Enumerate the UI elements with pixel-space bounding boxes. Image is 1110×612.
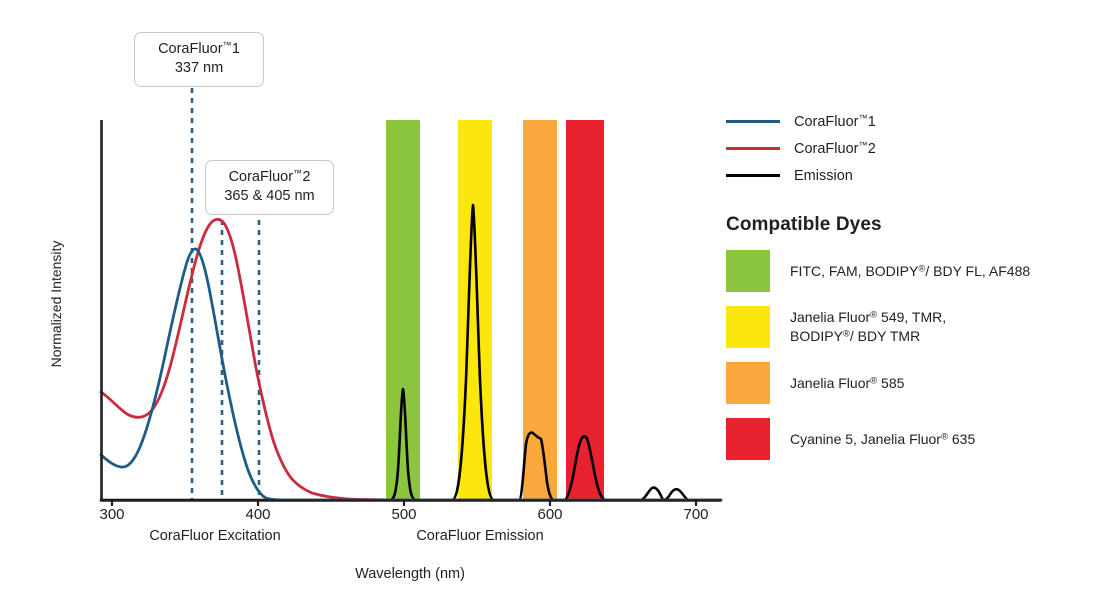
- x-tick-label-700: 700: [666, 506, 726, 523]
- x-tick-label-300: 300: [82, 506, 142, 523]
- excitation-markers: [192, 88, 259, 501]
- legend-line-swatch-corafluor1: [726, 120, 780, 123]
- callout-corafluor1-line1: CoraFluor™1: [147, 40, 251, 59]
- band-orange: [523, 120, 557, 500]
- band-green: [386, 120, 420, 500]
- excitation-section-label: CoraFluor Excitation: [70, 528, 360, 544]
- legend-item-emission: Emission: [726, 162, 1102, 189]
- legend-panel: CoraFluor™1 CoraFluor™2 Emission Compati…: [726, 108, 1102, 460]
- x-tick-label-400: 400: [228, 506, 288, 523]
- legend-line-swatch-emission: [726, 174, 780, 177]
- y-axis-title: Normalized Intensity: [48, 214, 64, 394]
- legend-item-corafluor2: CoraFluor™2: [726, 135, 1102, 162]
- callout-corafluor1: CoraFluor™1 337 nm: [134, 32, 264, 87]
- legend-item-corafluor1: CoraFluor™1: [726, 108, 1102, 135]
- dye-swatch-yellow: [726, 306, 770, 348]
- compatible-dyes-title: Compatible Dyes: [726, 214, 1102, 236]
- legend-label-corafluor2: CoraFluor™2: [794, 140, 876, 157]
- dye-item-yellow: Janelia Fluor® 549, TMR,BODIPY®/ BDY TMR: [726, 306, 1102, 348]
- legend-label-corafluor1: CoraFluor™1: [794, 113, 876, 130]
- dye-label-green: FITC, FAM, BODIPY®/ BDY FL, AF488: [790, 262, 1030, 281]
- dye-label-yellow: Janelia Fluor® 549, TMR,BODIPY®/ BDY TMR: [790, 308, 946, 345]
- legend-label-emission: Emission: [794, 168, 853, 184]
- dye-bands: [386, 120, 604, 500]
- spectra-figure: 300 400 500 600 700 CoraFluor Excitation…: [0, 0, 1110, 612]
- dye-label-red: Cyanine 5, Janelia Fluor® 635: [790, 430, 975, 449]
- band-red: [566, 120, 604, 500]
- dye-swatch-red: [726, 418, 770, 460]
- callout-corafluor2: CoraFluor™2 365 & 405 nm: [205, 160, 334, 215]
- dye-item-green: FITC, FAM, BODIPY®/ BDY FL, AF488: [726, 250, 1102, 292]
- x-tick-label-600: 600: [520, 506, 580, 523]
- legend-line-swatch-corafluor2: [726, 147, 780, 150]
- dye-label-orange: Janelia Fluor® 585: [790, 374, 904, 393]
- callout-corafluor2-line2: 365 & 405 nm: [218, 187, 321, 206]
- dye-swatch-green: [726, 250, 770, 292]
- emission-section-label: CoraFluor Emission: [370, 528, 590, 544]
- dye-swatch-orange: [726, 362, 770, 404]
- dye-item-red: Cyanine 5, Janelia Fluor® 635: [726, 418, 1102, 460]
- callout-corafluor1-line2: 337 nm: [147, 59, 251, 78]
- x-tick-label-500: 500: [374, 506, 434, 523]
- callout-corafluor2-line1: CoraFluor™2: [218, 168, 321, 187]
- dye-item-orange: Janelia Fluor® 585: [726, 362, 1102, 404]
- x-axis-title: Wavelength (nm): [0, 566, 820, 582]
